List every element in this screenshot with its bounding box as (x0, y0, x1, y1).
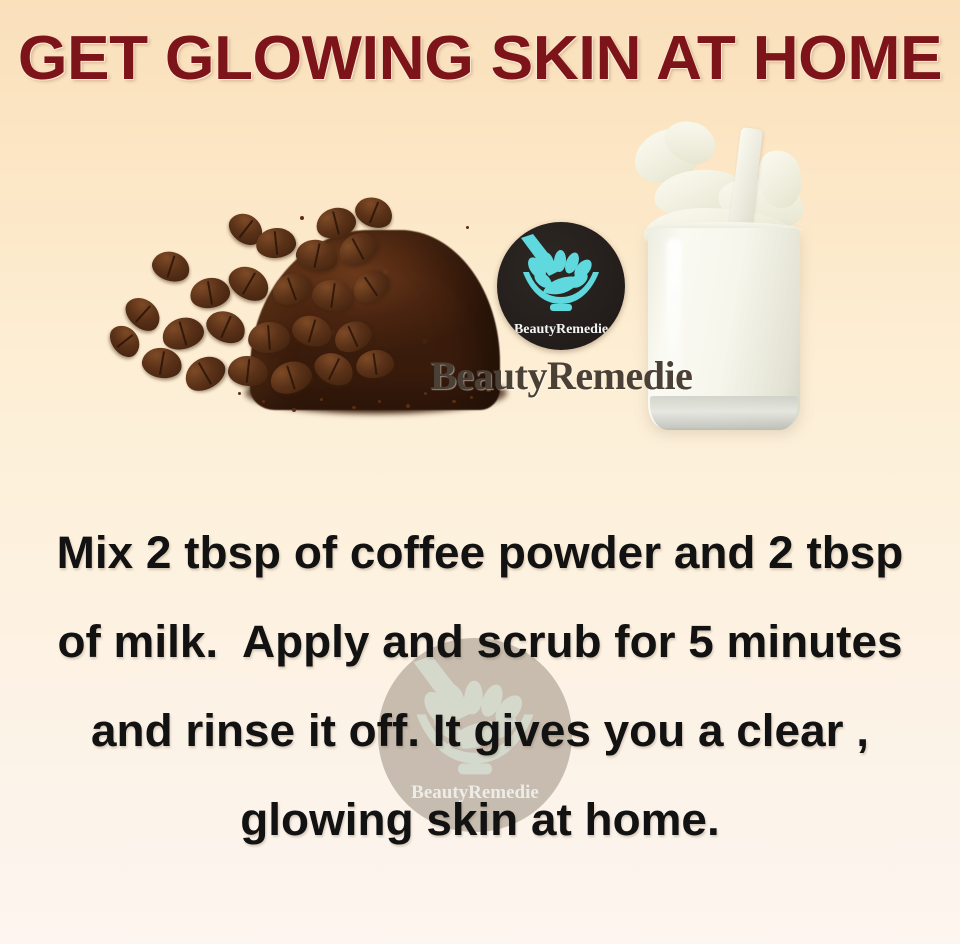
coffee-bean (351, 192, 397, 233)
powder-speck (320, 398, 323, 401)
coffee-bean (188, 275, 233, 311)
powder-speck (352, 406, 356, 409)
badge-label: BeautyRemedie (497, 322, 625, 338)
powder-speck (262, 400, 265, 403)
glass-of-milk (630, 110, 820, 450)
hero-image: BeautyRemedie BeautyRemedie (0, 100, 960, 460)
powder-speck (466, 226, 469, 229)
powder-speck (238, 392, 241, 395)
recipe-poster: GET GLOWING SKIN AT HOME (0, 0, 960, 944)
powder-speck (424, 392, 427, 395)
coffee-bean (179, 350, 231, 398)
powder-speck (406, 404, 410, 408)
instruction-line: of milk. Apply and scrub for 5 minutes (0, 597, 960, 686)
brand-logo-badge: BeautyRemedie (497, 222, 625, 350)
instruction-text: Mix 2 tbsp of coffee powder and 2 tbsp o… (0, 508, 960, 864)
glass-base (650, 396, 798, 430)
brand-wordmark: BeautyRemedie (430, 352, 692, 399)
powder-speck (452, 400, 456, 403)
mortar-and-pestle-with-leaves-icon (515, 234, 607, 316)
page-title: GET GLOWING SKIN AT HOME (0, 24, 960, 94)
instruction-line: glowing skin at home. (0, 775, 960, 864)
coffee-bean (148, 247, 193, 286)
powder-speck (378, 400, 381, 403)
instruction-line: and rinse it off. It gives you a clear , (0, 686, 960, 775)
instruction-line: Mix 2 tbsp of coffee powder and 2 tbsp (0, 508, 960, 597)
powder-speck (292, 408, 296, 412)
coffee-bean (140, 345, 185, 381)
powder-speck (300, 216, 304, 220)
